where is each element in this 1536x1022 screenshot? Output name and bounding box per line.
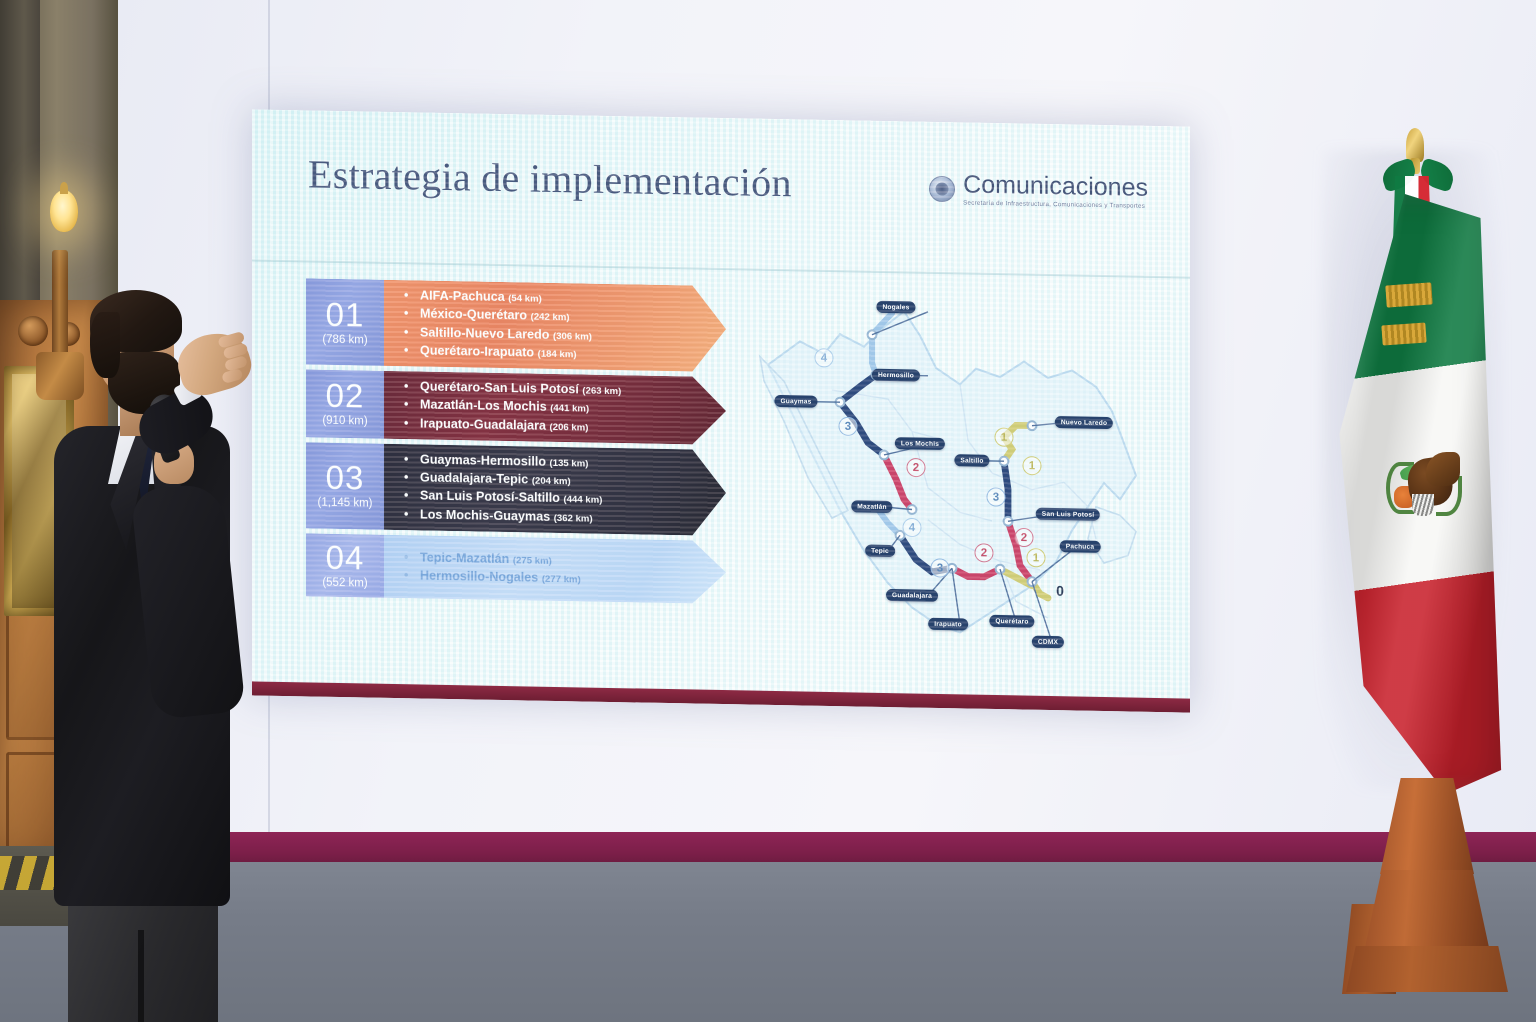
city-label-san-luis-potosi[interactable]: San Luis Potosí <box>1036 508 1100 521</box>
segment-name: Saltillo-Nuevo Laredo <box>420 325 549 341</box>
segment-name: Querétaro-Irapuato <box>420 343 534 359</box>
bullet-icon: • <box>404 488 420 504</box>
presenter <box>46 290 246 990</box>
list-item: •Hermosillo-Nogales (277 km) <box>404 567 692 589</box>
phase-total-km: (552 km) <box>322 577 367 590</box>
phase-total-km: (786 km) <box>322 333 367 346</box>
presenter-hair-side <box>90 312 120 378</box>
segment-name: Irapuato-Guadalajara <box>420 416 546 432</box>
phase-row[interactable]: 03 (1,145 km) •Guaymas-Hermosillo (135 k… <box>306 442 726 536</box>
coat-of-arms-icon <box>1382 446 1466 522</box>
phase-badge: 4 <box>815 348 834 367</box>
segment-name: Tepic-Mazatlán <box>420 550 509 566</box>
phase-badge: 3 <box>931 558 950 577</box>
gold-tassel <box>1385 282 1432 307</box>
cabinet-carving <box>18 316 48 346</box>
segment-name: AIFA-Pachuca <box>420 288 505 304</box>
city-label-nogales[interactable]: Nogales <box>876 301 915 314</box>
city-label-tepic[interactable]: Tepic <box>865 545 895 558</box>
segment-km: (277 km) <box>542 574 581 586</box>
stand-base <box>1346 946 1508 992</box>
phase-number: 03 <box>326 461 365 495</box>
bullet-icon: • <box>404 342 420 358</box>
segment-km: (306 km) <box>553 330 592 342</box>
segment-km: (444 km) <box>563 495 602 507</box>
city-label-hermosillo[interactable]: Hermosillo <box>872 369 920 382</box>
bullet-icon: • <box>404 506 420 522</box>
segment-km: (135 km) <box>549 458 588 470</box>
phase-row[interactable]: 04 (552 km) •Tepic-Mazatlán (275 km) •He… <box>306 533 726 604</box>
segment-name: México-Querétaro <box>420 307 527 323</box>
bullet-icon: • <box>404 287 420 303</box>
slide-surface: Estrategia de implementación Comunicacio… <box>252 109 1190 712</box>
phase-badge: 3 <box>839 417 858 436</box>
segment-km: (54 km) <box>508 293 542 305</box>
city-label-los-mochis[interactable]: Los Mochis <box>895 437 945 450</box>
bullet-icon: • <box>404 549 420 565</box>
segment-km: (263 km) <box>582 386 621 398</box>
phase-badge: 2 <box>1015 528 1034 547</box>
bullet-icon: • <box>404 469 420 485</box>
presenter-leg-seam <box>138 930 144 1022</box>
phase-number-cell: 03 (1,145 km) <box>306 442 384 529</box>
phase-row[interactable]: 01 (786 km) •AIFA-Pachuca (54 km) •Méxic… <box>306 278 726 372</box>
title-divider <box>252 259 1190 278</box>
phase-row[interactable]: 02 (910 km) •Querétaro-San Luis Potosí (… <box>306 369 726 444</box>
phase-badge: 1 <box>995 428 1014 447</box>
conference-room-scene: Estrategia de implementación Comunicacio… <box>0 0 1536 1022</box>
flag-stand <box>1342 778 1510 990</box>
phase-badge: 4 <box>903 518 922 537</box>
city-label-pachuca[interactable]: Pachuca <box>1060 540 1101 553</box>
bullet-icon: • <box>404 397 420 413</box>
phase-items: •Tepic-Mazatlán (275 km) •Hermosillo-Nog… <box>384 535 726 604</box>
lamp-shade-icon <box>50 190 78 232</box>
phase-badge: 2 <box>907 458 926 477</box>
phase-badge: 1 <box>1023 456 1042 475</box>
phase-badge: 3 <box>987 487 1006 506</box>
city-label-nuevo-laredo[interactable]: Nuevo Laredo <box>1055 416 1113 429</box>
eagle-tail <box>1412 494 1434 516</box>
logo-title: Comunicaciones <box>963 172 1148 200</box>
phase-badge: 0 <box>1051 581 1070 600</box>
segment-name: Guadalajara-Tepic <box>420 471 528 487</box>
eagle-wing <box>1426 452 1460 486</box>
list-item: •Irapuato-Guadalajara (206 km) <box>404 415 692 437</box>
phase-badge: 2 <box>975 543 994 562</box>
segment-name: Mazatlán-Los Mochis <box>420 398 547 414</box>
city-label-cdmx[interactable]: CDMX <box>1032 636 1064 649</box>
phase-chevron: 04 (552 km) •Tepic-Mazatlán (275 km) •He… <box>306 533 726 604</box>
phase-list: 01 (786 km) •AIFA-Pachuca (54 km) •Méxic… <box>306 278 726 609</box>
mexico-map[interactable]: Nogales Hermosillo Guaymas Los Mochis Ma… <box>752 277 1152 684</box>
city-label-guadalajara[interactable]: Guadalajara <box>886 589 938 602</box>
segment-name: Guaymas-Hermosillo <box>420 452 546 468</box>
phase-badge: 1 <box>1027 548 1046 567</box>
bullet-icon: • <box>404 451 420 467</box>
segment-km: (242 km) <box>531 312 570 324</box>
bullet-icon: • <box>404 567 420 583</box>
logo-subtitle: Secretaría de Infraestructura, Comunicac… <box>963 200 1148 210</box>
segment-name: San Luis Potosí-Saltillo <box>420 489 560 506</box>
stand-upper <box>1380 778 1474 874</box>
phase-number: 04 <box>326 541 365 575</box>
government-seal-icon <box>929 176 955 202</box>
slide-title: Estrategia de implementación <box>308 150 792 206</box>
bullet-icon: • <box>404 305 420 321</box>
list-item: •Los Mochis-Guaymas (362 km) <box>404 506 692 528</box>
phase-items: •AIFA-Pachuca (54 km) •México-Querétaro … <box>384 280 726 372</box>
phase-number-cell: 01 (786 km) <box>306 278 384 365</box>
segment-name: Los Mochis-Guaymas <box>420 507 550 523</box>
phase-chevron: 01 (786 km) •AIFA-Pachuca (54 km) •Méxic… <box>306 278 726 372</box>
logo-text-block: Comunicaciones Secretaría de Infraestruc… <box>963 172 1148 210</box>
phase-items: •Querétaro-San Luis Potosí (263 km) •Maz… <box>384 371 726 445</box>
gold-tassel <box>1381 322 1426 345</box>
list-item: •Querétaro-Irapuato (184 km) <box>404 342 692 364</box>
projected-slide[interactable]: Estrategia de implementación Comunicacio… <box>252 109 1190 712</box>
phase-chevron: 02 (910 km) •Querétaro-San Luis Potosí (… <box>306 369 726 444</box>
phase-items: •Guaymas-Hermosillo (135 km) •Guadalajar… <box>384 444 726 536</box>
segment-km: (441 km) <box>550 403 589 415</box>
segment-km: (362 km) <box>554 513 593 525</box>
city-label-saltillo[interactable]: Saltillo <box>954 454 989 467</box>
segment-name: Querétaro-San Luis Potosí <box>420 380 579 397</box>
phase-chevron: 03 (1,145 km) •Guaymas-Hermosillo (135 k… <box>306 442 726 536</box>
phase-number: 01 <box>326 297 365 331</box>
segment-km: (275 km) <box>513 555 552 567</box>
bullet-icon: • <box>404 378 420 394</box>
stand-middle <box>1364 870 1490 952</box>
segment-km: (184 km) <box>538 348 577 360</box>
mexican-flag-unit <box>1330 128 1520 888</box>
bullet-icon: • <box>404 324 420 340</box>
segment-name: Hermosillo-Nogales <box>420 568 538 584</box>
city-label-queretaro[interactable]: Querétaro <box>989 615 1034 628</box>
sict-logo: Comunicaciones Secretaría de Infraestruc… <box>929 172 1148 210</box>
lamp-finial <box>60 182 68 194</box>
flag-finial-icon <box>1406 128 1424 162</box>
phase-number-cell: 02 (910 km) <box>306 369 384 438</box>
phase-total-km: (910 km) <box>322 415 367 428</box>
segment-km: (204 km) <box>532 476 571 488</box>
bullet-icon: • <box>404 415 420 431</box>
phase-number-cell: 04 (552 km) <box>306 533 384 597</box>
phase-number: 02 <box>326 379 365 413</box>
city-label-mazatlan[interactable]: Mazatlán <box>851 500 892 513</box>
city-label-guaymas[interactable]: Guaymas <box>774 395 817 408</box>
phase-total-km: (1,145 km) <box>318 497 373 510</box>
finger <box>221 368 243 384</box>
city-label-irapuato[interactable]: Irapuato <box>928 618 968 631</box>
segment-km: (206 km) <box>549 421 588 433</box>
